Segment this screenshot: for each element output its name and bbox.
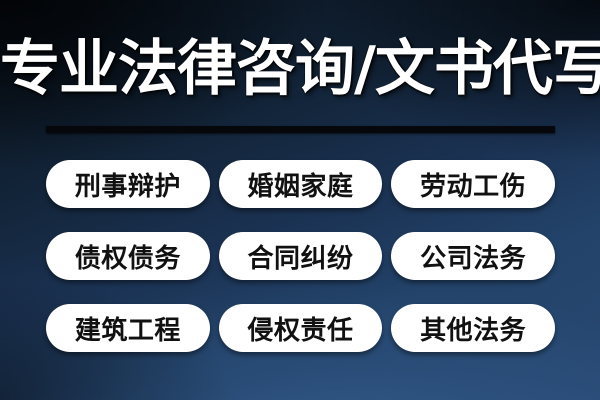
category-row-2: 债权债务 合同纠纷 公司法务 (46, 232, 555, 280)
category-pill-labor-injury[interactable]: 劳动工伤 (391, 160, 555, 208)
category-pill-grid: 刑事辩护 婚姻家庭 劳动工伤 债权债务 合同纠纷 公司法务 建筑工程 侵权责任 … (46, 160, 555, 352)
category-pill-criminal-defense[interactable]: 刑事辩护 (46, 160, 210, 208)
category-pill-creditor-debt[interactable]: 债权债务 (46, 232, 210, 280)
title-divider (46, 126, 555, 133)
category-pill-corporate-legal[interactable]: 公司法务 (391, 232, 555, 280)
category-pill-marriage-family[interactable]: 婚姻家庭 (219, 160, 383, 208)
category-pill-construction-engineering[interactable]: 建筑工程 (46, 304, 210, 352)
category-pill-tort-liability[interactable]: 侵权责任 (219, 304, 383, 352)
category-row-1: 刑事辩护 婚姻家庭 劳动工伤 (46, 160, 555, 208)
category-pill-other-legal[interactable]: 其他法务 (391, 304, 555, 352)
category-pill-contract-dispute[interactable]: 合同纠纷 (219, 232, 383, 280)
legal-services-banner: 专业法律咨询/文书代写 刑事辩护 婚姻家庭 劳动工伤 债权债务 合同纠纷 公司法… (0, 0, 600, 400)
category-row-3: 建筑工程 侵权责任 其他法务 (46, 304, 555, 352)
banner-title: 专业法律咨询/文书代写 (0, 33, 600, 105)
